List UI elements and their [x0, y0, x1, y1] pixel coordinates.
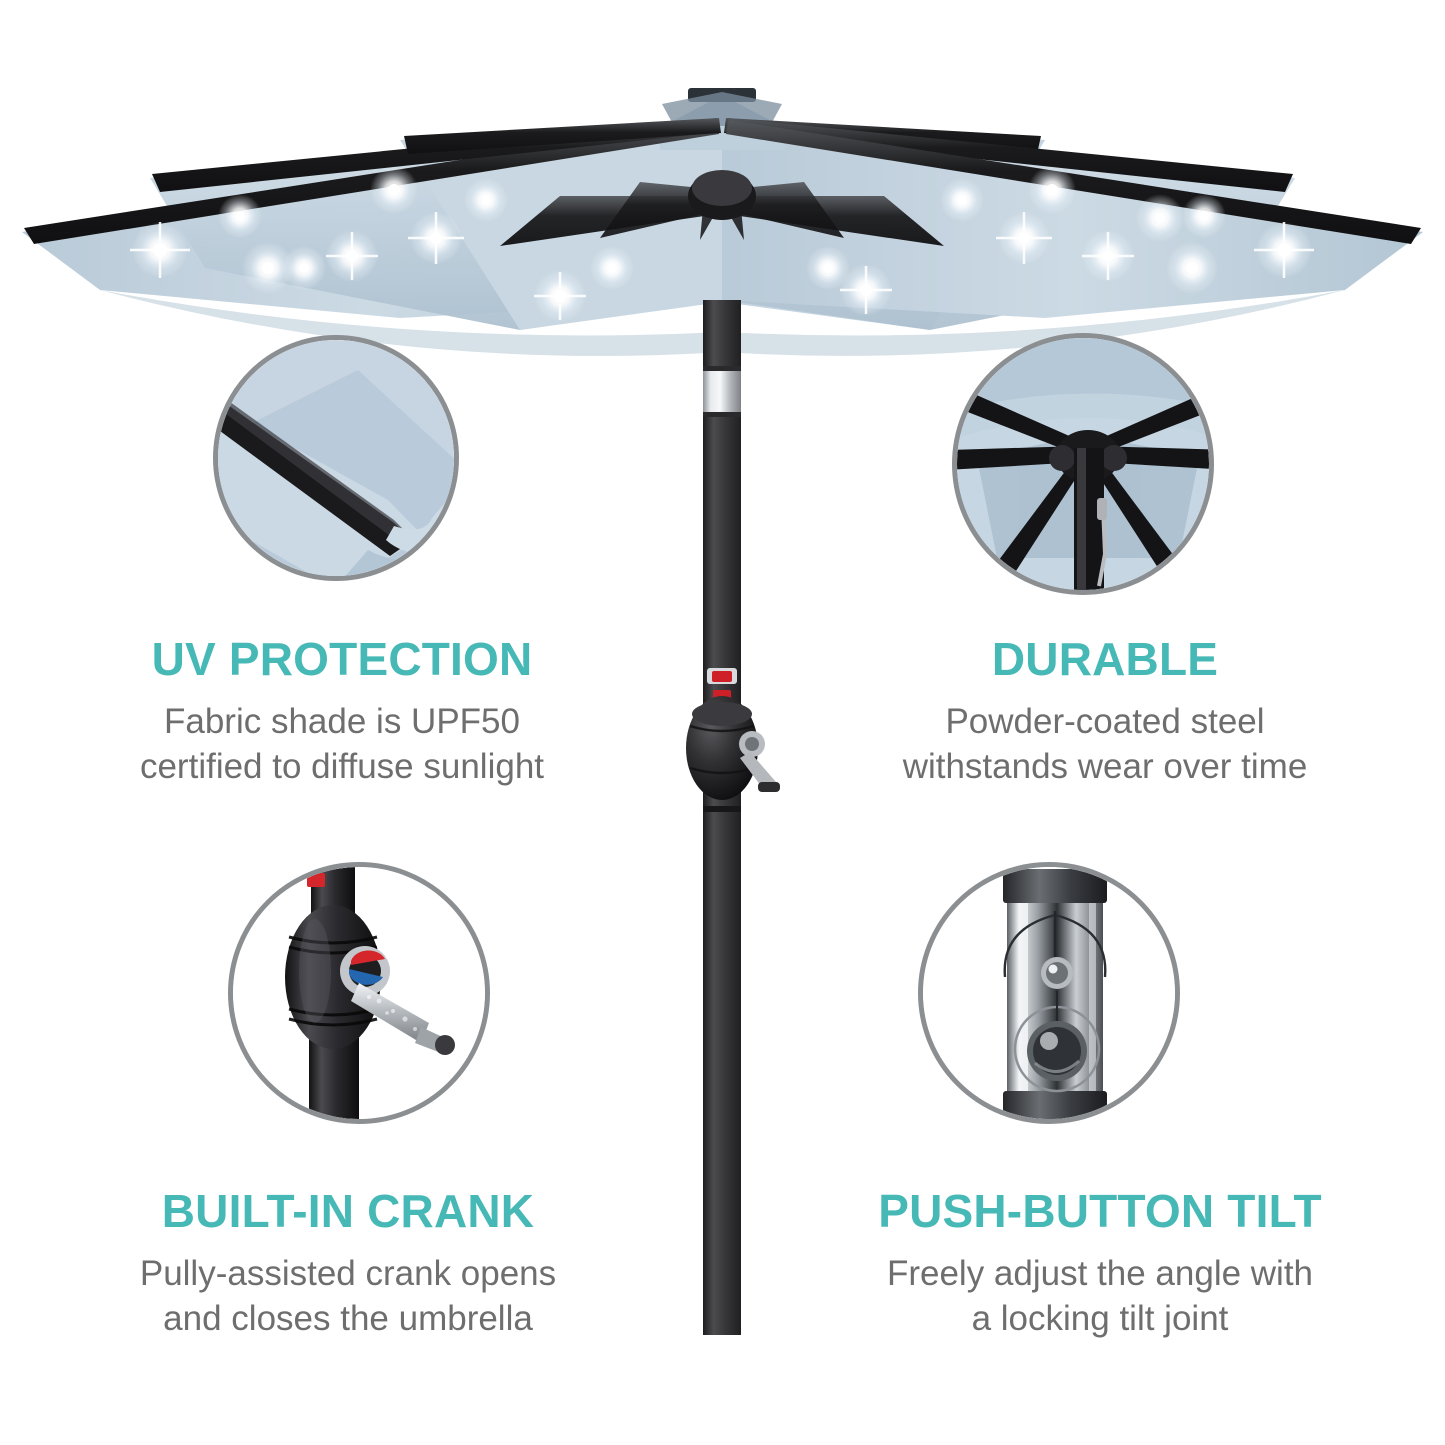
feature-body-line: and closes the umbrella — [48, 1297, 648, 1342]
feature-block-uv-protection: UV PROTECTION Fabric shade is UPF50 cert… — [42, 636, 642, 790]
pole-crank-housing — [686, 668, 780, 800]
canopy-vent-cap — [688, 88, 756, 102]
steel-hub-icon — [957, 338, 1209, 590]
feature-block-durable: DURABLE Powder-coated steel withstands w… — [805, 636, 1405, 790]
canopy-hub — [688, 170, 756, 220]
inset-uv-protection — [213, 335, 459, 581]
pole-tilt-joint — [703, 368, 741, 414]
feature-body-push-button-tilt: Freely adjust the angle with a locking t… — [800, 1252, 1400, 1342]
infographic-canvas: UV PROTECTION Fabric shade is UPF50 cert… — [0, 0, 1445, 1445]
feature-heading-push-button-tilt: PUSH-BUTTON TILT — [800, 1188, 1400, 1234]
fabric-rib-icon — [218, 340, 454, 576]
feature-block-built-in-crank: BUILT-IN CRANK Pully-assisted crank open… — [48, 1188, 648, 1342]
umbrella-pole — [703, 300, 741, 1335]
feature-body-line: Pully-assisted crank opens — [48, 1252, 648, 1297]
tilt-button-icon — [923, 867, 1175, 1119]
feature-body-durable: Powder-coated steel withstands wear over… — [805, 700, 1405, 790]
feature-body-line: Freely adjust the angle with — [800, 1252, 1400, 1297]
feature-body-line: a locking tilt joint — [800, 1297, 1400, 1342]
inset-durable — [952, 333, 1214, 595]
feature-heading-durable: DURABLE — [805, 636, 1405, 682]
feature-body-line: Fabric shade is UPF50 — [42, 700, 642, 745]
umbrella-canopy — [22, 88, 1423, 356]
crank-handle-icon — [233, 867, 485, 1119]
feature-body-line: certified to diffuse sunlight — [42, 745, 642, 790]
feature-heading-built-in-crank: BUILT-IN CRANK — [48, 1188, 648, 1234]
umbrella-ribs — [24, 118, 1421, 246]
feature-body-line: withstands wear over time — [805, 745, 1405, 790]
feature-block-push-button-tilt: PUSH-BUTTON TILT Freely adjust the angle… — [800, 1188, 1400, 1342]
feature-body-built-in-crank: Pully-assisted crank opens and closes th… — [48, 1252, 648, 1342]
feature-body-line: Powder-coated steel — [805, 700, 1405, 745]
feature-body-uv-protection: Fabric shade is UPF50 certified to diffu… — [42, 700, 642, 790]
inset-built-in-crank — [228, 862, 490, 1124]
feature-heading-uv-protection: UV PROTECTION — [42, 636, 642, 682]
led-lights — [130, 166, 1314, 322]
inset-push-button-tilt — [918, 862, 1180, 1124]
